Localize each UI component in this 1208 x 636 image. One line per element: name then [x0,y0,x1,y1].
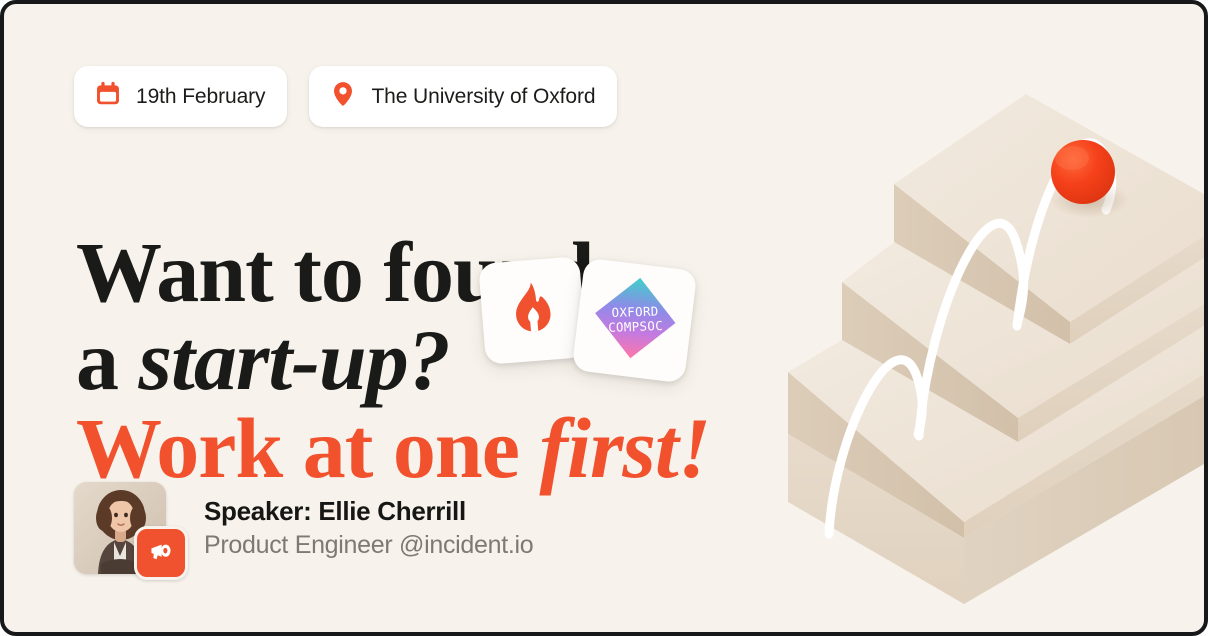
megaphone-icon [148,538,174,569]
event-poster: 19th February The University of Oxford W… [0,0,1208,636]
speaker-text: Speaker: Ellie Cherrill Product Engineer… [188,494,533,562]
calendar-icon [94,80,122,113]
megaphone-badge [134,526,188,580]
avatar-wrap [74,482,166,574]
headline-line-3-italic: first! [539,400,710,496]
speaker-name: Speaker: Ellie Cherrill [204,494,533,528]
svg-text:COMPSOC: COMPSOC [607,318,662,335]
incident-io-flame-logo-card [478,256,587,365]
oxford-compsoc-logo-card: OXFORD COMPSOC [572,258,698,384]
pill-event-date-label: 19th February [136,85,265,109]
headline-line-2-plain: a [76,312,139,408]
speaker-block: Speaker: Ellie Cherrill Product Engineer… [74,482,533,574]
pill-event-date[interactable]: 19th February [74,66,287,127]
event-meta-pills: 19th February The University of Oxford [74,66,617,127]
location-pin-icon [329,80,357,113]
headline-line-3: Work at one first! [76,404,776,492]
pill-event-location-label: The University of Oxford [371,85,595,109]
headline-line-2-italic: start-up? [139,312,450,408]
pill-event-location[interactable]: The University of Oxford [309,66,617,127]
isometric-staircase-illustration [764,4,1204,636]
speaker-role: Product Engineer @incident.io [204,528,533,562]
oxford-compsoc-diamond-icon: OXFORD COMPSOC [583,267,686,374]
flame-icon [501,277,564,344]
